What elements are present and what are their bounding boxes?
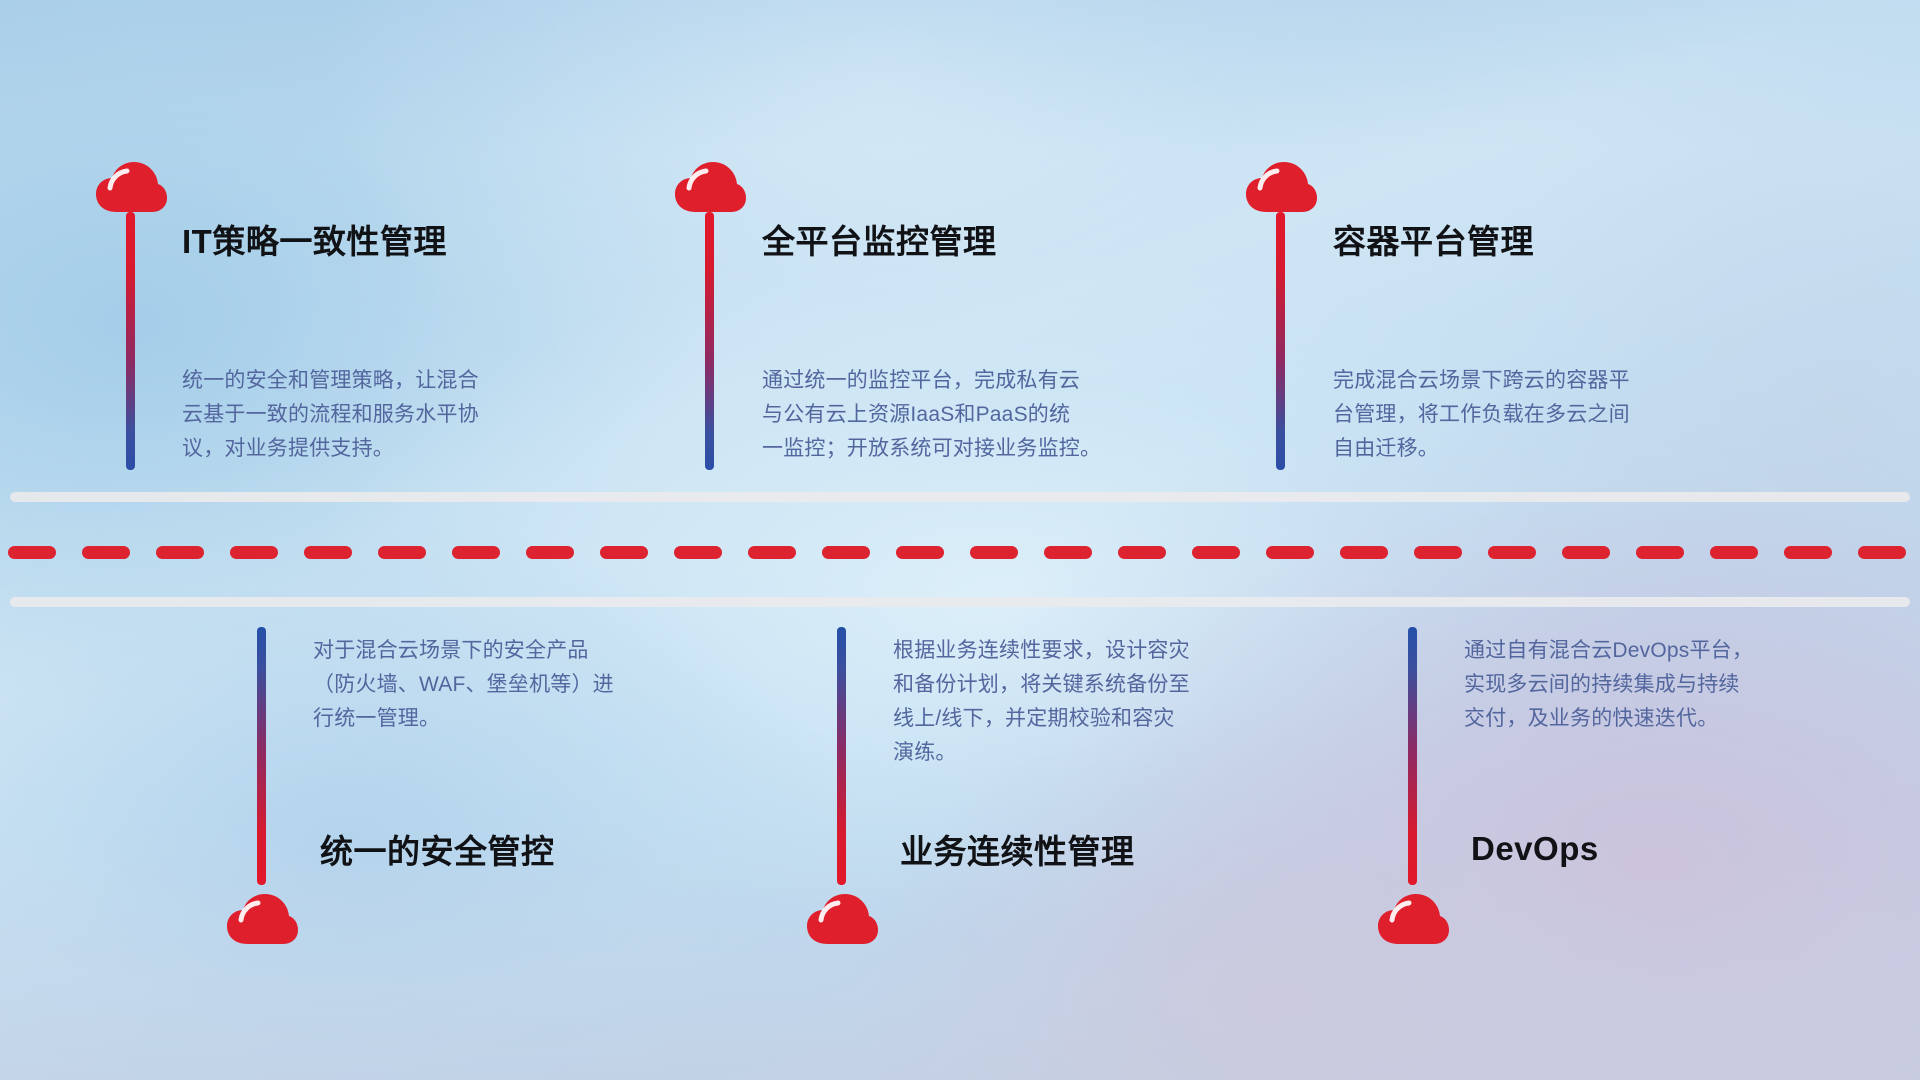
divider-dash (1192, 546, 1240, 559)
divider-dash (1858, 546, 1906, 559)
connector-line (837, 627, 846, 885)
divider-dash (970, 546, 1018, 559)
divider-dash (526, 546, 574, 559)
divider-dash (674, 546, 722, 559)
column-title: 容器平台管理 (1333, 225, 1534, 258)
divider-dash (82, 546, 130, 559)
column-description: 通过统一的监控平台，完成私有云 与公有云上资源IaaS和PaaS的统 一监控；开… (762, 364, 1192, 466)
cloud-icon (224, 892, 300, 948)
column-title: 统一的安全管控 (320, 835, 555, 868)
divider-dash (896, 546, 944, 559)
cloud-icon (672, 160, 748, 216)
divider-dash (1340, 546, 1388, 559)
divider-dash (822, 546, 870, 559)
divider-dash (8, 546, 56, 559)
column-description: 通过自有混合云DevOps平台， 实现多云间的持续集成与持续 交付，及业务的快速… (1464, 634, 1884, 736)
divider-dash (1784, 546, 1832, 559)
connector-line (126, 212, 135, 470)
column-description: 根据业务连续性要求，设计容灾 和备份计划，将关键系统备份至 线上/线下，并定期校… (893, 634, 1323, 770)
divider-line-bottom (10, 597, 1910, 607)
column-description: 统一的安全和管理策略，让混合 云基于一致的流程和服务水平协 议，对业务提供支持。 (182, 364, 602, 466)
divider-dash (156, 546, 204, 559)
divider-dash (378, 546, 426, 559)
cloud-icon (804, 892, 880, 948)
divider-dash (452, 546, 500, 559)
divider-dash (1488, 546, 1536, 559)
divider-dash (748, 546, 796, 559)
cloud-icon (1375, 892, 1451, 948)
column-description: 完成混合云场景下跨云的容器平 台管理，将工作负载在多云之间 自由迁移。 (1333, 364, 1753, 466)
column-title: 业务连续性管理 (900, 835, 1135, 868)
divider-dash (304, 546, 352, 559)
connector-line (1276, 212, 1285, 470)
column-title: DevOps (1471, 832, 1599, 865)
divider-dashed-line (0, 545, 1920, 559)
divider-dash (1562, 546, 1610, 559)
divider-dash (1044, 546, 1092, 559)
divider-dash (1266, 546, 1314, 559)
divider-dash (1414, 546, 1462, 559)
cloud-icon (93, 160, 169, 216)
connector-line (257, 627, 266, 885)
column-title: IT策略一致性管理 (182, 225, 447, 258)
connector-line (705, 212, 714, 470)
divider-dash (600, 546, 648, 559)
infographic-canvas: IT策略一致性管理 统一的安全和管理策略，让混合 云基于一致的流程和服务水平协 … (0, 0, 1920, 1080)
column-description: 对于混合云场景下的安全产品 （防火墙、WAF、堡垒机等）进 行统一管理。 (313, 634, 733, 736)
column-title: 全平台监控管理 (762, 225, 997, 258)
connector-line (1408, 627, 1417, 885)
divider-dash (1118, 546, 1166, 559)
divider-dash (1710, 546, 1758, 559)
divider-dash (1636, 546, 1684, 559)
divider-line-top (10, 492, 1910, 502)
divider-dash (230, 546, 278, 559)
cloud-icon (1243, 160, 1319, 216)
